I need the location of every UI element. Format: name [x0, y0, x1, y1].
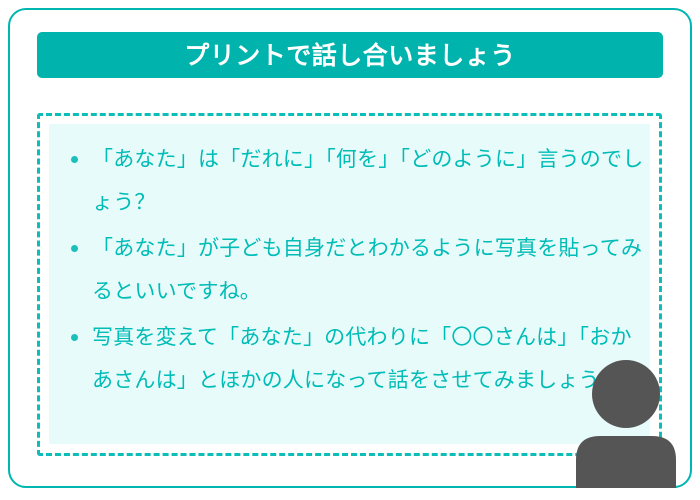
list-item-text: 「あなた」が子ども自身だとわかるように写真を貼ってみるといいですね。 — [92, 227, 646, 313]
list-item: 「あなた」は「だれに」「何を」「どのように」言うのでしょう？ — [66, 138, 646, 224]
bullet-dot-icon — [71, 156, 78, 163]
list-item-text: 写真を変えて「あなた」の代わりに「〇〇さんは」「おかあさんは」とほかの人になって… — [92, 316, 646, 402]
list-item-text: 「あなた」は「だれに」「何を」「どのように」言うのでしょう？ — [92, 138, 646, 224]
list-item: 「あなた」が子ども自身だとわかるように写真を貼ってみるといいですね。 — [66, 227, 646, 313]
slide-canvas: プリントで話し合いましょう 「あなた」は「だれに」「何を」「どのように」言うので… — [0, 0, 700, 500]
title-banner: プリントで話し合いましょう — [37, 32, 663, 78]
list-item: 写真を変えて「あなた」の代わりに「〇〇さんは」「おかあさんは」とほかの人になって… — [66, 316, 646, 402]
bullet-dot-icon — [71, 334, 78, 341]
bullet-dot-icon — [71, 245, 78, 252]
bullet-list: 「あなた」は「だれに」「何を」「どのように」言うのでしょう？ 「あなた」が子ども… — [66, 138, 646, 405]
page-title: プリントで話し合いましょう — [184, 43, 516, 68]
person-silhouette-icon — [570, 358, 682, 488]
